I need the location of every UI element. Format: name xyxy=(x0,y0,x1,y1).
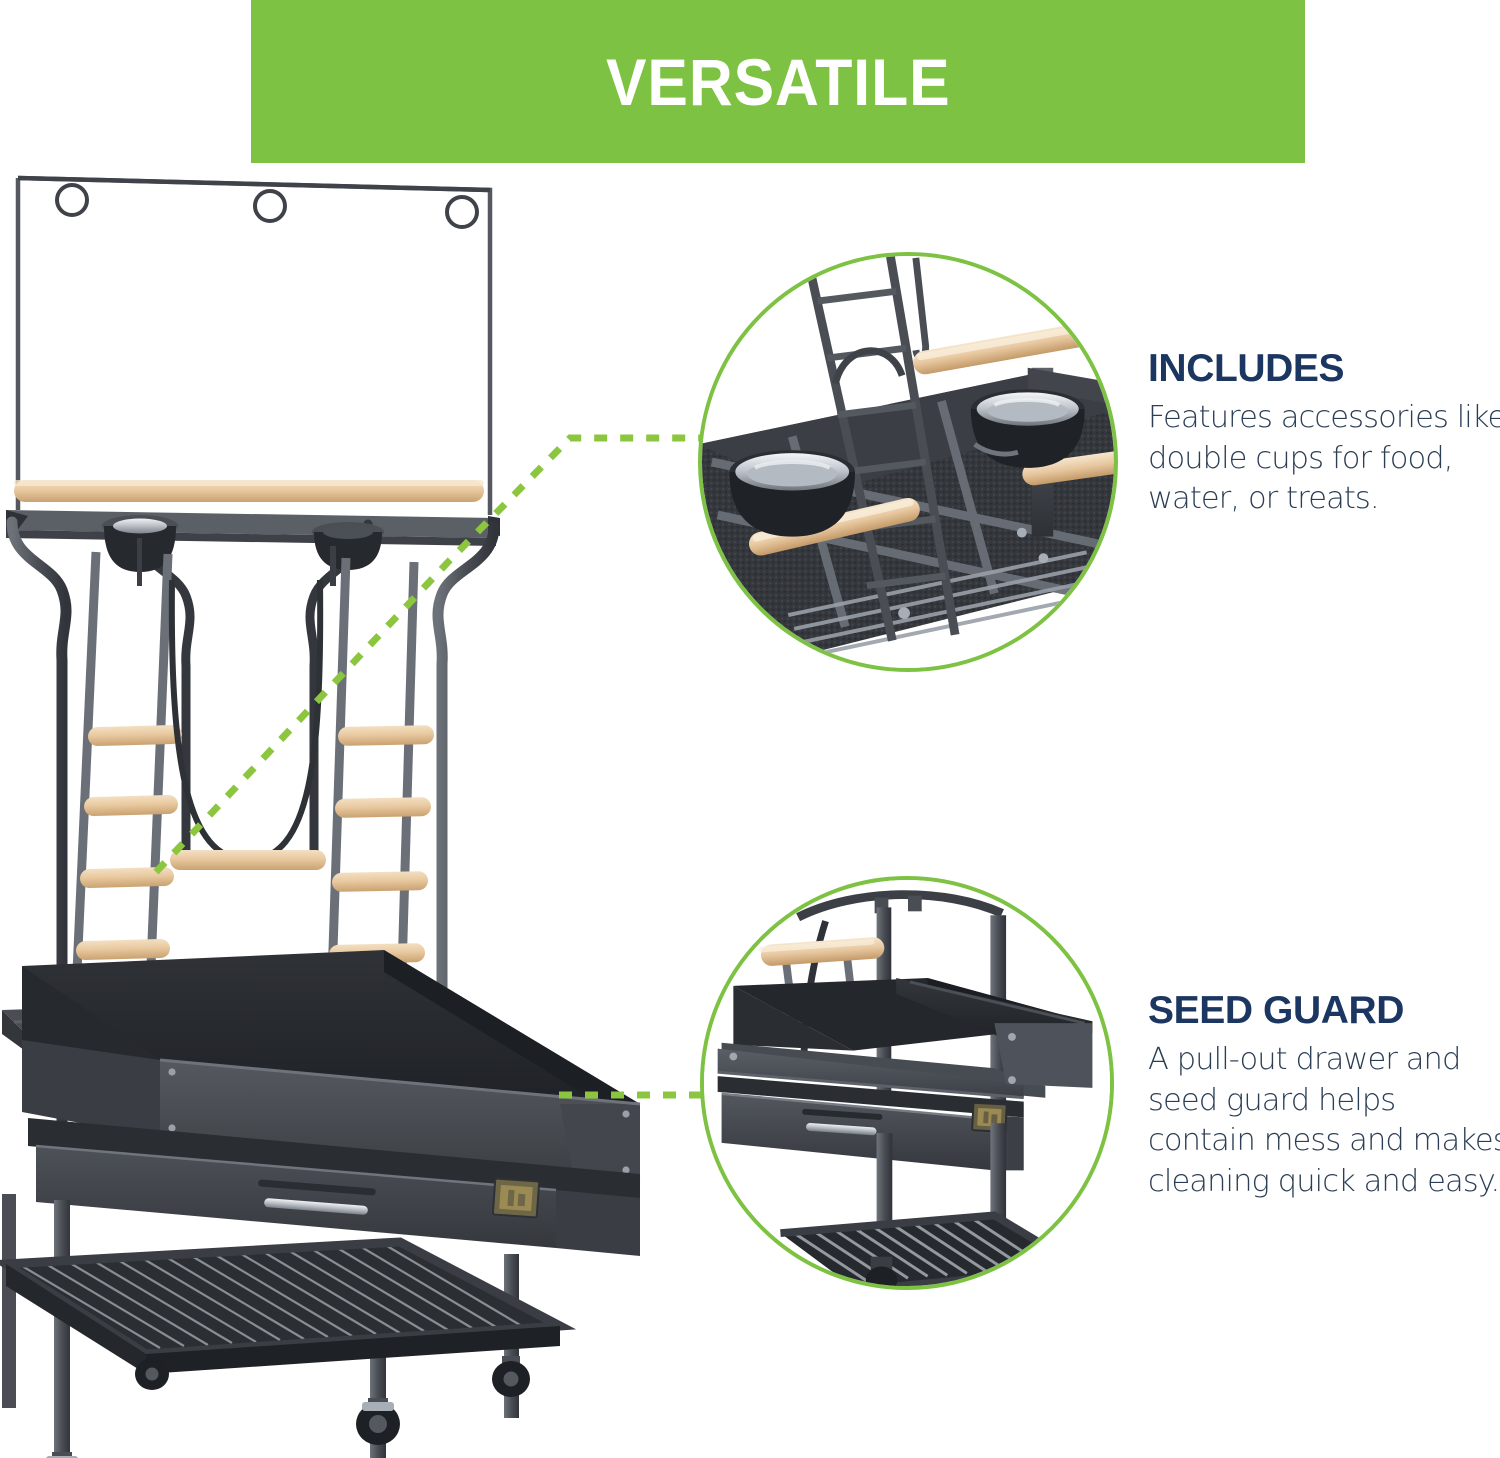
caster-front-right xyxy=(356,1398,400,1445)
header-banner: VERSATILE xyxy=(251,0,1305,163)
caster-rear-left xyxy=(135,1358,169,1390)
infographic-page: VERSATILE xyxy=(0,0,1500,1458)
callout-circle-seed-guard xyxy=(700,876,1114,1290)
bottom-wire-shelf xyxy=(6,1242,560,1374)
casters xyxy=(39,1356,530,1458)
callout-circle-includes xyxy=(698,252,1118,672)
connector-line-seed-guard xyxy=(555,1080,715,1110)
banner-title: VERSATILE xyxy=(606,49,951,115)
feature-heading-includes: INCLUDES xyxy=(1148,348,1500,390)
feature-heading-seed-guard: SEED GUARD xyxy=(1148,990,1500,1032)
caster-front-left xyxy=(39,1452,85,1458)
caster-rear-right xyxy=(492,1356,530,1397)
feature-body-seed-guard: A pull-out drawer and seed guard helps c… xyxy=(1148,1040,1500,1202)
brand-plate xyxy=(493,1179,539,1218)
connector-line-includes xyxy=(150,420,720,880)
feature-block-seed-guard: SEED GUARD A pull-out drawer and seed gu… xyxy=(1148,990,1500,1202)
feature-block-includes: INCLUDES Features accessories like doubl… xyxy=(1148,348,1500,520)
feature-body-includes: Features accessories like double cups fo… xyxy=(1148,398,1500,520)
